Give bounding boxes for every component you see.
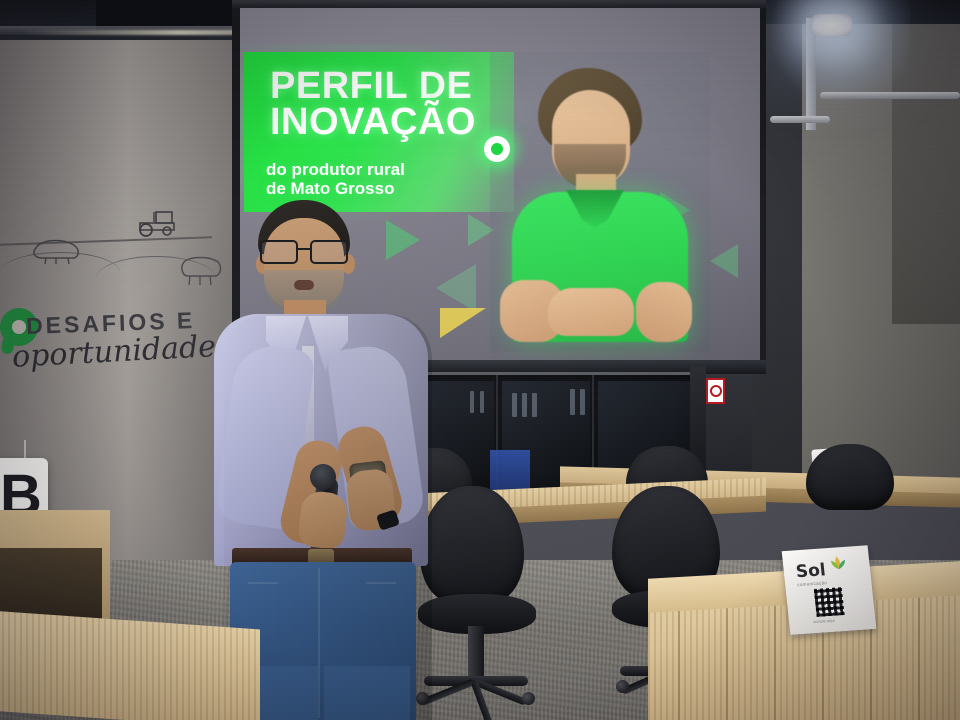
cabinet-contents-7 — [580, 389, 585, 415]
sol-table-card: Sol comunicação acesse aqui — [782, 545, 877, 635]
cabinet-contents-1 — [470, 391, 474, 413]
speaker-hand-left — [297, 490, 349, 551]
slide-photo-right-arm — [636, 282, 692, 342]
slide-green-dot-icon — [484, 136, 510, 162]
slide-triangle-yellow — [440, 308, 486, 338]
speaker-mouth — [294, 280, 314, 290]
eyeglasses-lens-left — [260, 240, 298, 264]
chair-backrest — [806, 444, 894, 510]
slide-photo-hands — [548, 288, 634, 336]
cabinet-contents-6 — [570, 389, 575, 415]
sol-brand-label: Sol — [795, 560, 827, 582]
sol-leaf-icon — [828, 555, 848, 572]
eyeglasses-bridge — [296, 248, 310, 250]
cabinet-contents-4 — [522, 393, 527, 417]
cabinet-contents-3 — [512, 393, 517, 417]
speaker-leg-right — [324, 666, 410, 720]
sol-card-footer: acesse aqui — [813, 618, 835, 624]
blue-storage-box — [490, 450, 530, 494]
left-foreground-counter — [0, 611, 260, 720]
qr-code-icon — [814, 587, 845, 617]
jeans-seam — [318, 568, 320, 718]
slide-triangle-green-5 — [710, 244, 738, 278]
left-counter-grain — [0, 611, 260, 720]
presentation-photo: PERFIL DE INOVAÇÃO do produtor rural de … — [0, 0, 960, 720]
slide-title-line2: INOVAÇÃO — [270, 104, 520, 140]
slide-title: PERFIL DE INOVAÇÃO — [270, 68, 520, 141]
eyeglasses-icon — [260, 240, 350, 260]
ceiling-rail-short — [770, 116, 830, 123]
eyeglasses-lens-right — [310, 240, 348, 264]
fire-equipment-sign-icon — [706, 378, 725, 404]
counter-panel-line — [918, 584, 920, 720]
chair-caster — [616, 680, 629, 693]
sol-tagline: comunicação — [797, 580, 827, 587]
slide-subtitle-line1: do produtor rural — [266, 160, 526, 179]
jeans-pocket-right — [366, 582, 396, 584]
chair-post — [468, 626, 484, 682]
jeans-pocket-left — [248, 582, 278, 584]
cabinet-contents-2 — [480, 391, 484, 413]
tractor-illustration-icon — [134, 208, 182, 238]
right-wall-panel — [892, 24, 960, 324]
cabinet-contents-5 — [532, 393, 537, 417]
slide-photo-subject — [490, 52, 710, 352]
ceiling-rail — [820, 92, 960, 99]
pig-illustration-icon — [30, 236, 86, 266]
chair-caster — [522, 692, 535, 705]
slide-subtitle: do produtor rural de Mato Grosso — [266, 160, 526, 198]
spotlight-icon — [812, 14, 852, 36]
slide-title-line1: PERFIL DE — [270, 68, 520, 104]
